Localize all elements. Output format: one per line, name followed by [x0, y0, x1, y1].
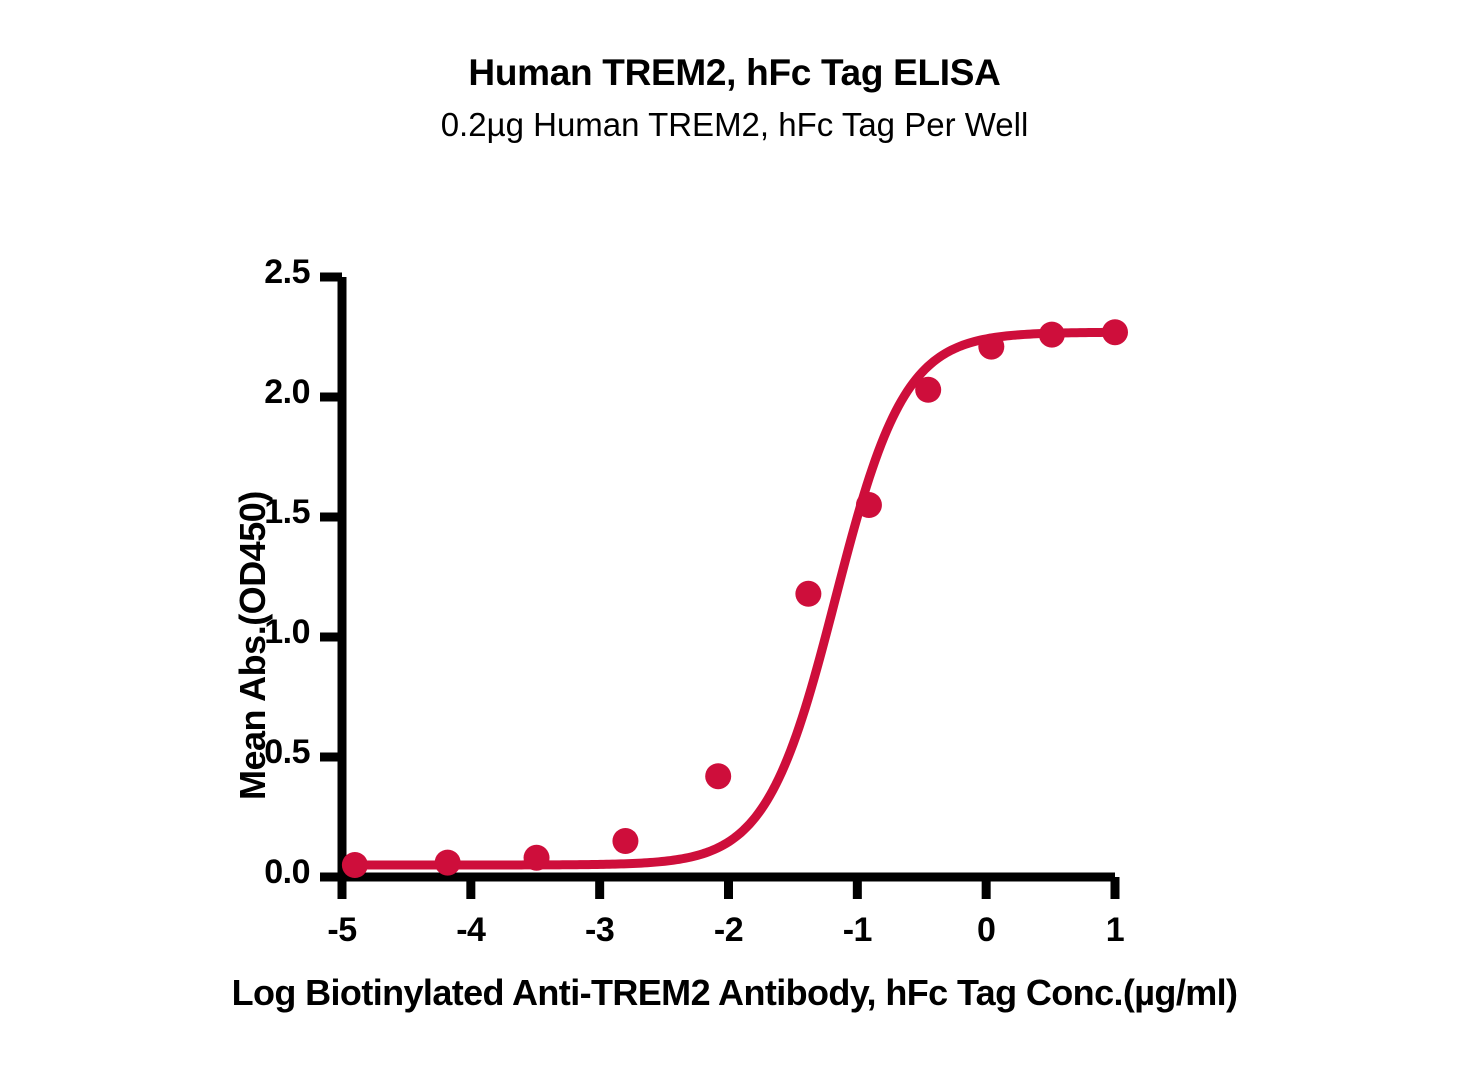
data-point-marker — [705, 763, 731, 789]
data-point-marker — [856, 492, 882, 518]
elisa-chart-figure: Human TREM2, hFc Tag ELISA 0.2µg Human T… — [0, 0, 1469, 1076]
x-tick-label: -3 — [570, 911, 630, 950]
data-point-marker — [342, 852, 368, 878]
data-point-marker — [795, 581, 821, 607]
x-tick-label: -2 — [699, 911, 759, 950]
y-tick-label: 0.0 — [218, 853, 310, 892]
x-tick-label: -5 — [312, 911, 372, 950]
data-point-markers — [342, 319, 1128, 878]
x-tick-label: 1 — [1085, 911, 1145, 950]
data-point-marker — [915, 377, 941, 403]
axes — [342, 277, 1115, 877]
x-tick-label: -1 — [827, 911, 887, 950]
data-point-marker — [435, 850, 461, 876]
data-point-marker — [1102, 319, 1128, 345]
y-tick-label: 1.0 — [218, 613, 310, 652]
x-tick-label: -4 — [441, 911, 501, 950]
y-tick-label: 0.5 — [218, 733, 310, 772]
data-point-marker — [978, 334, 1004, 360]
data-point-marker — [612, 828, 638, 854]
data-point-marker — [524, 845, 550, 871]
data-point-marker — [1039, 322, 1065, 348]
y-tick-label: 1.5 — [218, 493, 310, 532]
y-tick-label: 2.0 — [218, 373, 310, 412]
fit-curve — [355, 332, 1115, 865]
x-tick-label: 0 — [956, 911, 1016, 950]
y-tick-label: 2.5 — [218, 253, 310, 292]
